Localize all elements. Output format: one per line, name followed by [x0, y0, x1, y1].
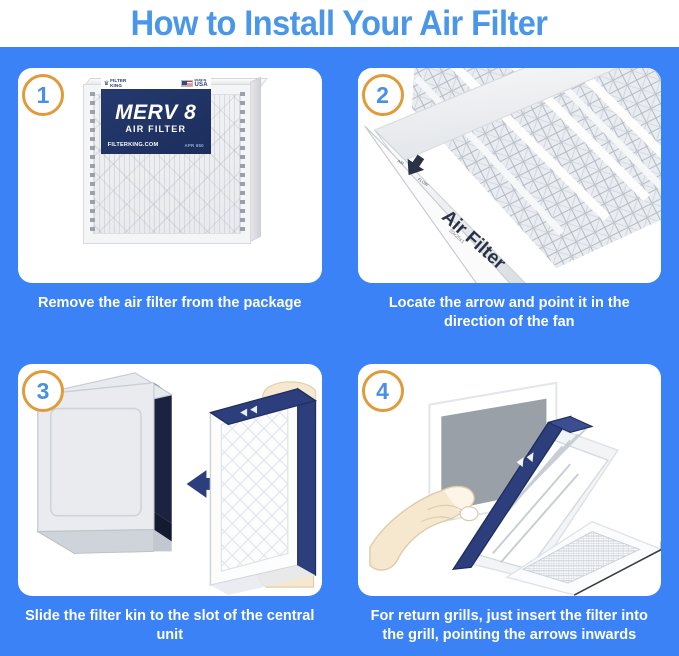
step-caption-1: Remove the air filter from the package [18, 294, 322, 313]
step-badge-2: 2 [362, 74, 404, 116]
page-title: How to Install Your Air Filter [131, 6, 548, 41]
air-filter-product-photo: ♛ FILTER KING MADE IN USA [77, 76, 263, 254]
infographic-root: How to Install Your Air Filter ♛ [0, 0, 679, 656]
step-panel-3: 3 Slide the filter kin to the slot of th… [0, 343, 340, 656]
made-in-usa-text: MADE IN USA [194, 79, 207, 88]
merv-rating: MERV 8 [101, 102, 211, 123]
website-text: FILTERKING.COM [108, 142, 159, 148]
made-in-usa-badge: MADE IN USA [181, 79, 208, 88]
brand-name: FILTER KING [110, 79, 126, 89]
filter-king-logo: ♛ FILTER KING [104, 79, 127, 89]
slot-opening [154, 383, 172, 524]
step-card-2: AIR FLOW Air Filter 20x25x1 2 [358, 68, 662, 283]
step-panel-4: 4 For return grills, just insert the fil… [340, 343, 679, 656]
filter-mesh [221, 407, 287, 572]
step-panel-2: AIR FLOW Air Filter 20x25x1 2 Locate the… [340, 47, 679, 343]
apr-rating-text: APR 650 [185, 143, 204, 148]
step-panel-1: ♛ FILTER KING MADE IN USA [0, 47, 340, 343]
step-caption-3: Slide the filter kin to the slot of the … [18, 607, 322, 645]
filter-left-tabs [90, 92, 95, 234]
step-card-4: 4 [358, 364, 662, 596]
insert-filter-into-return-grill-illustration [358, 364, 662, 596]
merv-subtitle: AIR FILTER [101, 125, 211, 134]
slide-filter-into-slot-illustration [18, 364, 322, 596]
filter-right-tabs [240, 92, 245, 234]
step-card-3: 3 [18, 364, 322, 596]
step-caption-2: Locate the arrow and point it in the dir… [358, 294, 662, 332]
filter-side-navy [298, 389, 316, 575]
filter-label-footer: FILTERKING.COM APR 650 [108, 142, 204, 148]
step-card-1: ♛ FILTER KING MADE IN USA [18, 68, 322, 283]
slide-filter-svg [18, 364, 322, 596]
step-badge-3: 3 [22, 370, 64, 412]
step-caption-4: For return grills, just insert the filte… [358, 607, 662, 645]
steps-grid: ♛ FILTER KING MADE IN USA [0, 47, 679, 656]
usa-label: USA [194, 82, 207, 88]
step-badge-4: 4 [362, 370, 404, 412]
crown-icon: ♛ [104, 81, 109, 87]
brand-line-2: KING [110, 83, 122, 88]
step-badge-1: 1 [22, 74, 64, 116]
header-bar: How to Install Your Air Filter [0, 0, 679, 47]
us-flag-icon [181, 80, 193, 88]
filter-right-edge [250, 77, 261, 242]
filter-label-header: ♛ FILTER KING MADE IN USA [101, 78, 211, 89]
return-grill-svg [358, 364, 662, 596]
filter-label: ♛ FILTER KING MADE IN USA [101, 89, 211, 154]
